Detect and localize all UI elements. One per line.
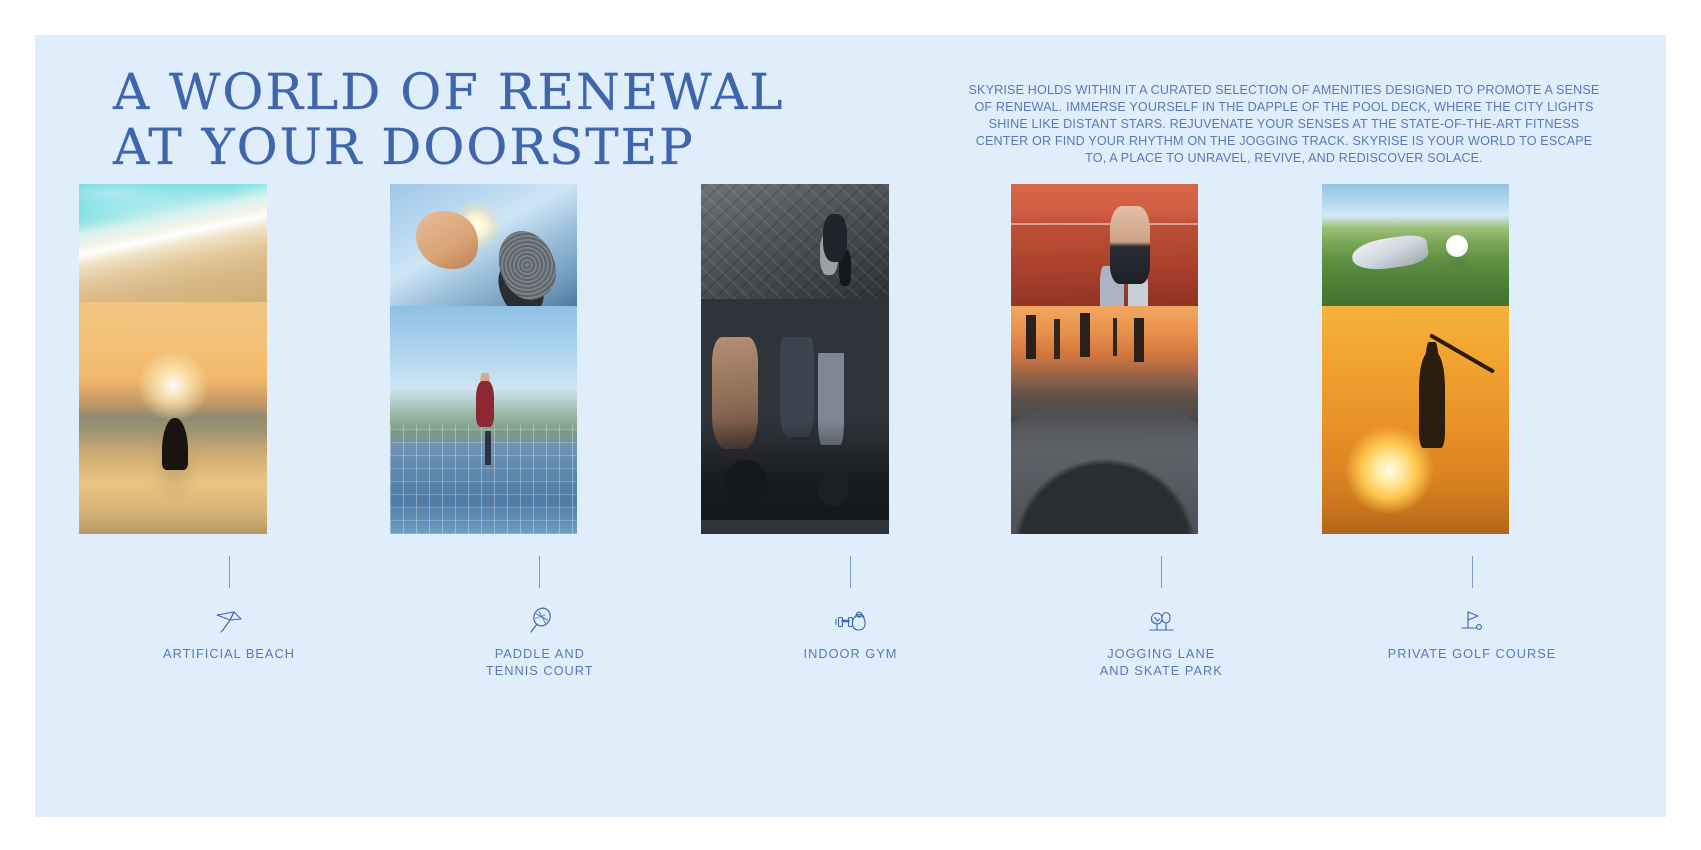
page-title: A WORLD OF RENEWAL AT YOUR DOORSTEP [113,65,784,175]
amenity-card-artificial-beach[interactable]: ARTIFICIAL BEACH [79,184,379,663]
photo-skate-park [1011,306,1198,534]
amenity-card-jogging-skate[interactable]: JOGGING LANE AND SKATE PARK [1011,184,1311,679]
beach-umbrella-icon [214,606,244,636]
connector-line [850,556,851,588]
photo-golf-tee [1322,184,1509,306]
intro-paragraph: SKYRISE HOLDS WITHIN IT A CURATED SELECT… [964,82,1604,167]
amenity-label: ARTIFICIAL BEACH [163,646,295,663]
amenity-photo-stack [1011,184,1311,534]
content-panel: A WORLD OF RENEWAL AT YOUR DOORSTEP SKYR… [35,35,1666,817]
photo-golf-sunset [1322,306,1509,534]
amenity-photo-stack [390,184,690,534]
amenity-photo-stack [79,184,379,534]
connector-line [1472,556,1473,588]
amenity-card-indoor-gym[interactable]: INDOOR GYM [701,184,1001,663]
golf-flag-icon [1458,606,1486,636]
amenity-card-private-golf-course[interactable]: PRIVATE GOLF COURSE [1322,184,1622,663]
tennis-racket-icon [527,606,553,636]
photo-padel-court [390,306,577,534]
amenity-photo-stack [701,184,1001,534]
amenity-card-paddle-tennis-court[interactable]: PADDLE AND TENNIS COURT [390,184,690,679]
dumbbell-kettlebell-icon [834,606,868,636]
connector-line [1161,556,1162,588]
connector-line [539,556,540,588]
amenity-label: INDOOR GYM [804,646,898,663]
connector-line [229,556,230,588]
photo-beach-sunset [79,302,267,534]
photo-gym-barbell [701,299,889,534]
amenity-photo-stack [1322,184,1622,534]
amenity-label: JOGGING LANE AND SKATE PARK [1100,646,1223,679]
photo-padel-sun [390,184,577,306]
photo-running-track [1011,184,1198,306]
amenities-slide: A WORLD OF RENEWAL AT YOUR DOORSTEP SKYR… [0,0,1701,850]
trees-icon [1146,606,1176,636]
photo-gym-overhead [701,184,889,299]
slide-header: A WORLD OF RENEWAL AT YOUR DOORSTEP SKYR… [35,35,1666,205]
amenity-grid: ARTIFICIAL BEACH [79,184,1622,679]
photo-beach-surf [79,184,267,302]
amenity-label: PRIVATE GOLF COURSE [1388,646,1557,663]
amenity-label: PADDLE AND TENNIS COURT [486,646,594,679]
